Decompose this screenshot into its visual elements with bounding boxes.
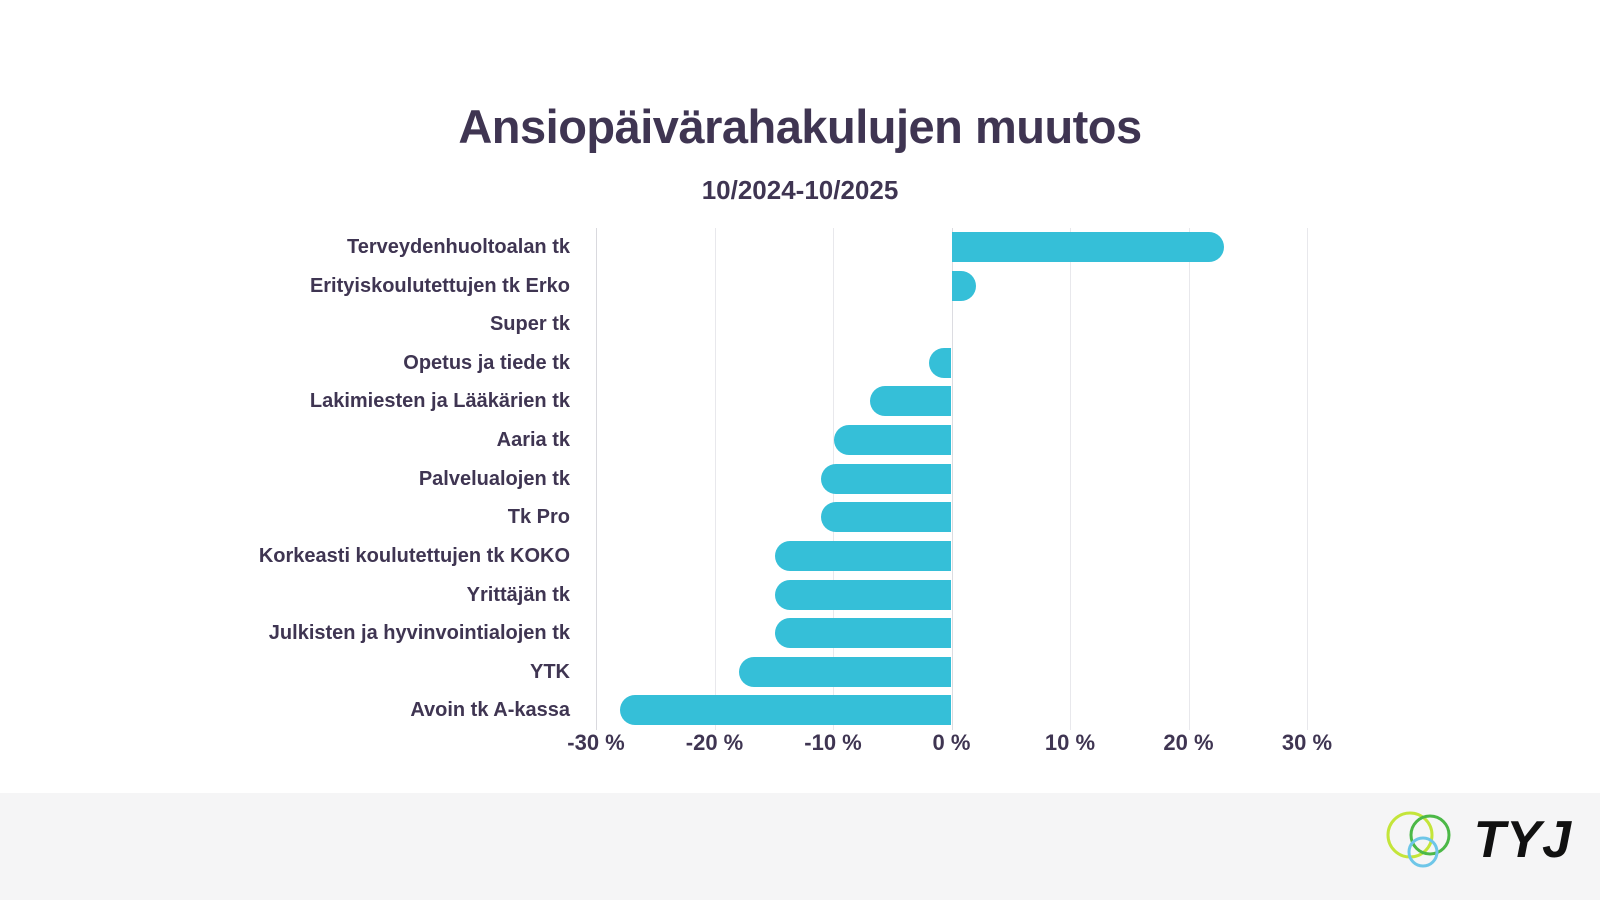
bar-row bbox=[596, 267, 1307, 306]
bar-row bbox=[596, 691, 1307, 730]
x-axis-tick-label: 30 % bbox=[1282, 730, 1332, 756]
bar-row bbox=[596, 614, 1307, 653]
bar[interactable] bbox=[775, 618, 952, 648]
bar-row bbox=[596, 305, 1307, 344]
bar-row bbox=[596, 228, 1307, 267]
y-axis-tick-label: Tk Pro bbox=[180, 498, 570, 537]
page-title: Ansiopäivärahakulujen muutos bbox=[0, 100, 1600, 154]
bar-rows bbox=[596, 228, 1307, 730]
bar[interactable] bbox=[775, 541, 952, 571]
bar[interactable] bbox=[929, 348, 952, 378]
y-axis-tick-label: Erityiskoulutettujen tk Erko bbox=[180, 267, 570, 306]
y-axis-labels: Terveydenhuoltoalan tkErityiskoulutettuj… bbox=[180, 228, 570, 730]
x-axis-tick-label: -30 % bbox=[567, 730, 624, 756]
x-axis-tick-label: -20 % bbox=[686, 730, 743, 756]
gridline-30 bbox=[1307, 228, 1308, 730]
bar-row bbox=[596, 344, 1307, 383]
tyj-logo: TYJ bbox=[1384, 807, 1572, 873]
plot-area bbox=[596, 228, 1307, 730]
y-axis-tick-label: Julkisten ja hyvinvointialojen tk bbox=[180, 614, 570, 653]
bar[interactable] bbox=[870, 386, 952, 416]
y-axis-tick-label: Korkeasti koulutettujen tk KOKO bbox=[180, 537, 570, 576]
bar[interactable] bbox=[739, 657, 951, 687]
chart-page: Ansiopäivärahakulujen muutos 10/2024-10/… bbox=[0, 0, 1600, 900]
x-axis-labels: -30 %-20 %-10 %0 %10 %20 %30 % bbox=[0, 730, 1600, 770]
bar-row bbox=[596, 498, 1307, 537]
x-axis-tick-label: 0 % bbox=[933, 730, 971, 756]
y-axis-tick-label: Super tk bbox=[180, 305, 570, 344]
bar-row bbox=[596, 460, 1307, 499]
bar[interactable] bbox=[834, 425, 951, 455]
tyj-wordmark: TYJ bbox=[1474, 810, 1572, 870]
y-axis-tick-label: Avoin tk A-kassa bbox=[180, 691, 570, 730]
bar[interactable] bbox=[952, 232, 1225, 262]
bar[interactable] bbox=[821, 502, 951, 532]
bar[interactable] bbox=[775, 580, 952, 610]
y-axis-tick-label: Yrittäjän tk bbox=[180, 576, 570, 615]
y-axis-tick-label: Opetus ja tiede tk bbox=[180, 344, 570, 383]
bar-row bbox=[596, 653, 1307, 692]
bar[interactable] bbox=[620, 695, 952, 725]
bar-row bbox=[596, 382, 1307, 421]
x-axis-tick-label: 10 % bbox=[1045, 730, 1095, 756]
bar-row bbox=[596, 421, 1307, 460]
y-axis-tick-label: Lakimiesten ja Lääkärien tk bbox=[180, 382, 570, 421]
x-axis-tick-label: 20 % bbox=[1163, 730, 1213, 756]
tyj-circles-icon bbox=[1384, 807, 1460, 873]
bar[interactable] bbox=[821, 464, 951, 494]
x-axis-tick-label: -10 % bbox=[804, 730, 861, 756]
bar-row bbox=[596, 537, 1307, 576]
y-axis-tick-label: Terveydenhuoltoalan tk bbox=[180, 228, 570, 267]
y-axis-tick-label: Aaria tk bbox=[180, 421, 570, 460]
footer-bar: TYJ bbox=[0, 793, 1600, 900]
y-axis-tick-label: Palvelualojen tk bbox=[180, 460, 570, 499]
page-subtitle: 10/2024-10/2025 bbox=[0, 175, 1600, 206]
bar[interactable] bbox=[952, 271, 977, 301]
y-axis-tick-label: YTK bbox=[180, 653, 570, 692]
bar-row bbox=[596, 576, 1307, 615]
